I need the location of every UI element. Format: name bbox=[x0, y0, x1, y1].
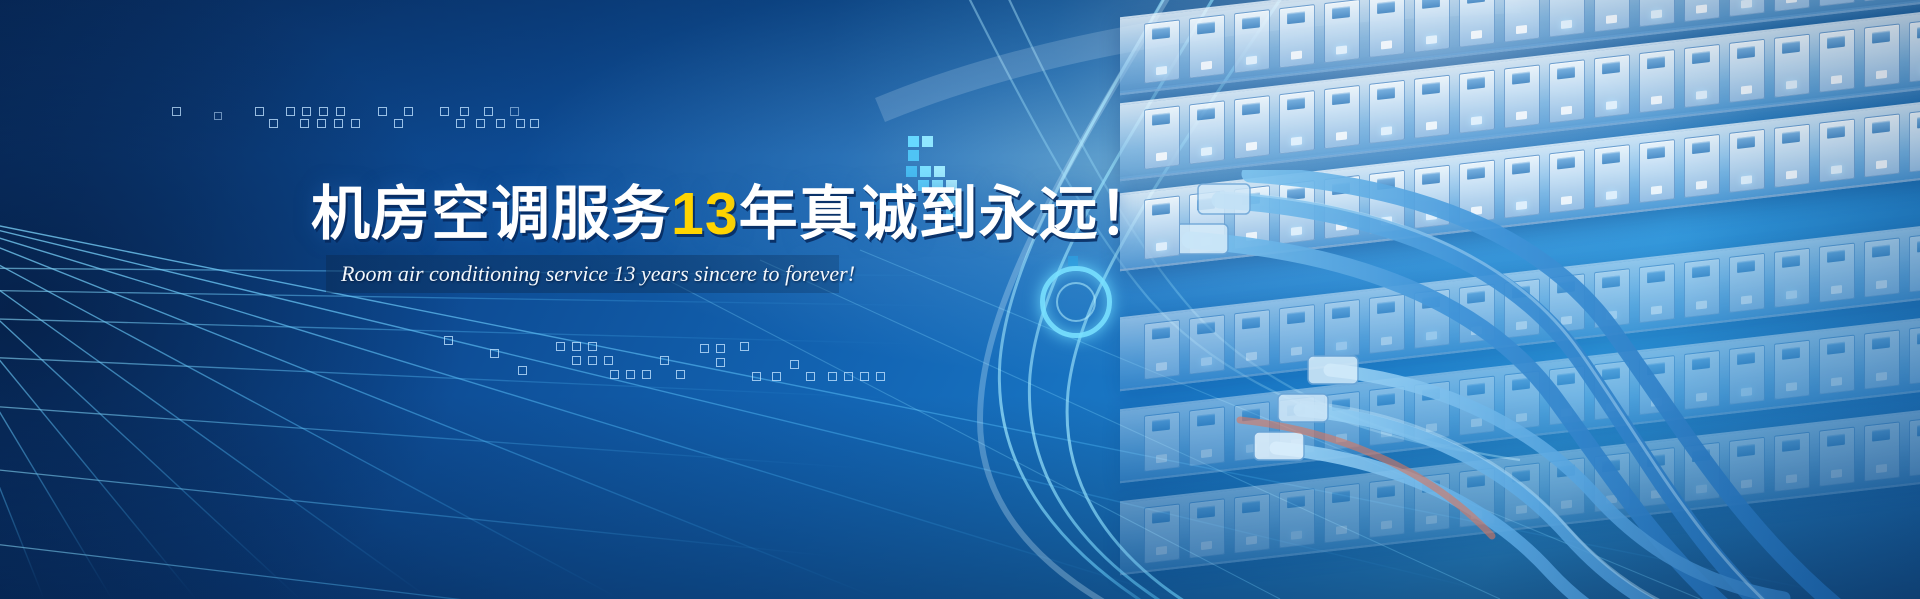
hero-banner: 机房空调服务13年真诚到永远！ Room air conditioning se… bbox=[0, 0, 1920, 599]
vignette-overlay bbox=[0, 0, 1920, 599]
